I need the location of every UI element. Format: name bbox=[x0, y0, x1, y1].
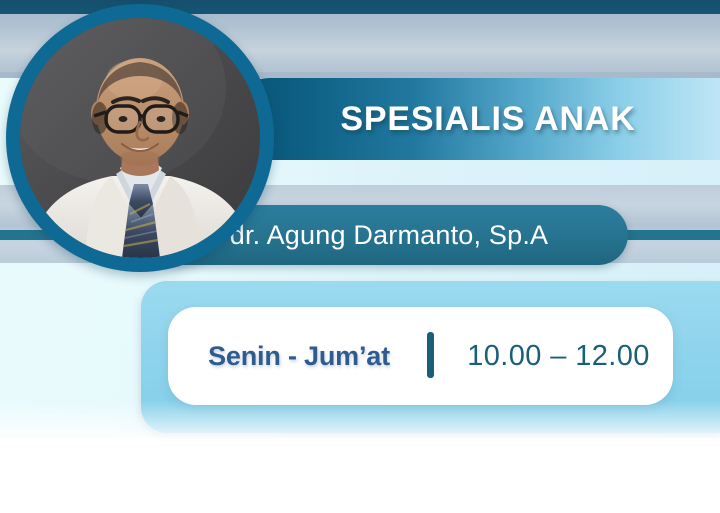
specialty-title: SPESIALIS ANAK bbox=[228, 78, 720, 160]
schedule-time-label: 10.00 – 12.00 bbox=[444, 307, 673, 405]
doctor-photo-ring bbox=[6, 4, 274, 272]
schedule-card: Senin - Jum’at 10.00 – 12.00 bbox=[168, 307, 673, 405]
doctor-photo bbox=[20, 18, 260, 258]
doctor-schedule-card: SPESIALIS ANAK dr. Agung Darmanto, Sp.A … bbox=[0, 0, 720, 513]
doctor-portrait-icon bbox=[20, 18, 260, 258]
bottom-fade bbox=[0, 400, 720, 444]
schedule-divider bbox=[427, 332, 434, 378]
specialty-banner: SPESIALIS ANAK bbox=[228, 78, 720, 160]
schedule-days-label: Senin - Jum’at bbox=[168, 307, 430, 405]
